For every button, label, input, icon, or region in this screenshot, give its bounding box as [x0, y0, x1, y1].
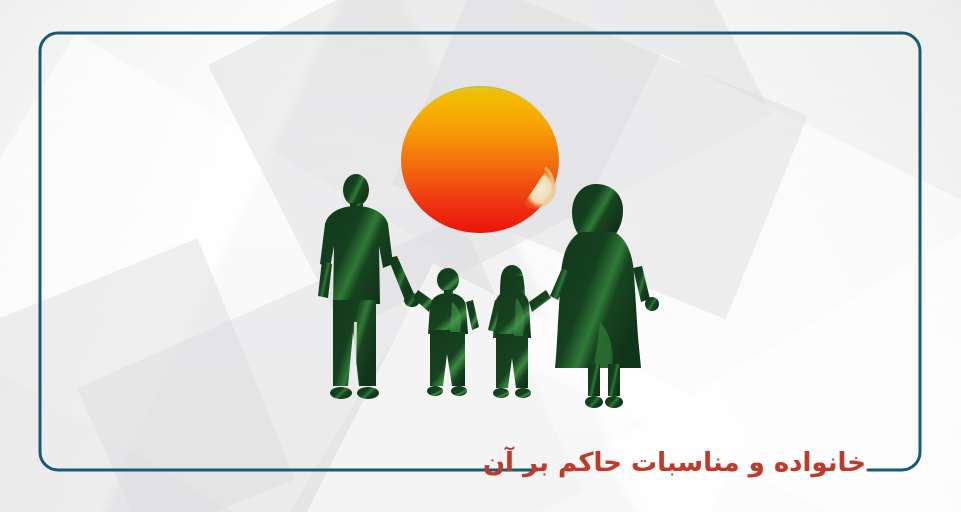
family-banner: خانواده و مناسبات حاکم بر آن	[0, 0, 961, 512]
girl-silhouette	[488, 265, 551, 398]
father-silhouette	[318, 174, 420, 399]
family-silhouette	[300, 172, 680, 420]
boy-silhouette	[413, 268, 479, 396]
mother-silhouette	[550, 184, 659, 408]
